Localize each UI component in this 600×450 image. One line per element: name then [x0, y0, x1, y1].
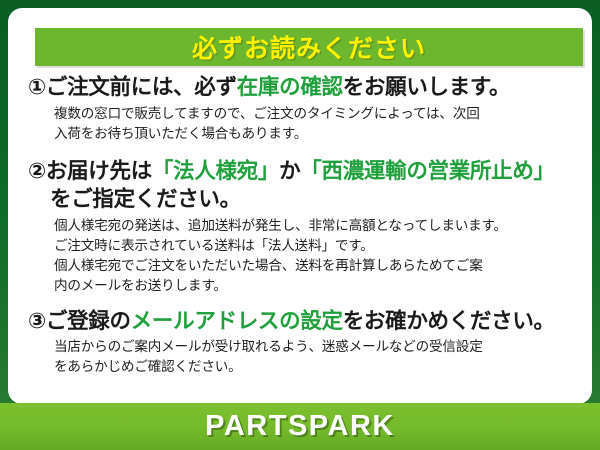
notice-item-heading: ①ご注文前には、必ず在庫の確認をお願いします。	[28, 74, 590, 103]
notice-card: 必ずお読みください ①ご注文前には、必ず在庫の確認をお願いします。複数の窓口で販…	[8, 8, 592, 404]
heading-text: ご登録の	[46, 309, 131, 334]
description-line: 入荷をお待ち頂いただく場合もあります。	[54, 125, 590, 145]
notice-item-description: 複数の窓口で販売してますので、ご注文のタイミングによっては、次回入荷をお待ち頂い…	[28, 103, 590, 145]
notice-item-description: 個人様宅宛の発送は、追加送料が発生し、非常に高額となってしまいます。ご注文時に表…	[28, 215, 590, 297]
heading-text: か	[279, 159, 300, 184]
notice-item-3: ③ご登録のメールアドレスの設定をお確かめください。当店からのご案内メールが受け取…	[28, 308, 590, 379]
description-line: 個人様宅宛でご注文をいただいた場合、送料を再計算しあらためてご案	[54, 257, 590, 277]
description-line: ご注文時に表示されている送料は「法人送料」です。	[54, 237, 590, 257]
highlighted-text: 「法人様宛」	[152, 159, 279, 184]
highlighted-text: メールアドレスの設定	[131, 309, 343, 334]
heading-text: お届け先は	[46, 159, 152, 184]
heading-text: をお確かめください。	[343, 309, 555, 334]
description-line: 複数の窓口で販売してますので、ご注文のタイミングによっては、次回	[54, 105, 590, 125]
notice-item-heading: ③ご登録のメールアドレスの設定をお確かめください。	[28, 308, 590, 337]
item-marker: ②	[28, 159, 46, 184]
description-line: をあらかじめご確認ください。	[54, 358, 590, 378]
description-line: 個人様宅宛の発送は、追加送料が発生し、非常に高額となってしまいます。	[54, 217, 590, 237]
notice-item-heading: ②お届け先は「法人様宛」か「西濃運輸の営業所止め」	[28, 158, 590, 187]
footer-band: PARTSPARK	[0, 403, 600, 450]
header-title: 必ずお読みください	[35, 28, 583, 66]
notice-items-list: ①ご注文前には、必ず在庫の確認をお願いします。複数の窓口で販売してますので、ご注…	[28, 74, 590, 378]
heading-text: をお願いします。	[343, 75, 510, 100]
heading-text: ご注文前には、必ず	[46, 75, 237, 100]
description-line: 当店からのご案内メールが受け取れるよう、迷惑メールなどの受信設定	[54, 338, 590, 358]
notice-item-1: ①ご注文前には、必ず在庫の確認をお願いします。複数の窓口で販売してますので、ご注…	[28, 74, 590, 145]
brand-wordmark: PARTSPARK	[205, 410, 395, 443]
notice-item-2: ②お届け先は「法人様宛」か「西濃運輸の営業所止め」をご指定ください。個人様宅宛の…	[28, 158, 590, 297]
item-marker: ①	[28, 75, 46, 100]
header-bar: 必ずお読みください	[35, 28, 583, 66]
notice-item-description: 当店からのご案内メールが受け取れるよう、迷惑メールなどの受信設定をあらかじめご確…	[28, 336, 590, 378]
item-marker: ③	[28, 309, 46, 334]
highlighted-text: 在庫の確認	[237, 75, 343, 100]
highlighted-text: 「西濃運輸の営業所止め」	[300, 159, 554, 184]
notice-banner: 必ずお読みください ①ご注文前には、必ず在庫の確認をお願いします。複数の窓口で販…	[0, 0, 600, 450]
description-line: 内のメールをお送りします。	[54, 277, 590, 297]
notice-item-heading-line2: をご指定ください。	[28, 186, 590, 215]
